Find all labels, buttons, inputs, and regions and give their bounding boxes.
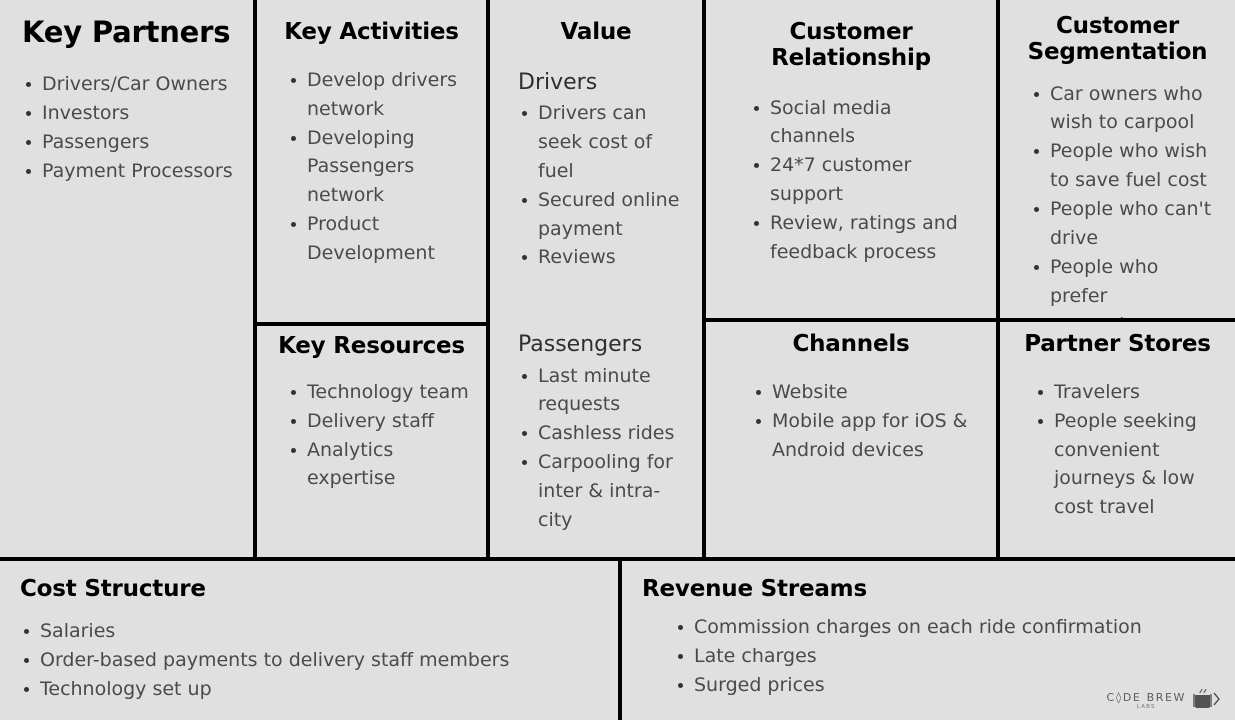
list-item: Carpooling for inter & intra-city [516, 448, 688, 535]
list-item: Review, ratings and feedback process [748, 209, 982, 267]
value-passengers-list: Last minute requests Cashless rides Carp… [516, 362, 688, 535]
list-item: Commission charges on each ride confirma… [672, 613, 1221, 642]
list-item: Salaries [18, 617, 604, 646]
list-item: Investors [20, 99, 239, 128]
divider-horizontal-activities-resources [253, 322, 490, 326]
partner-stores-title: Partner Stores [1014, 332, 1221, 358]
brew-cup-icon [1191, 688, 1221, 710]
revenue-streams-list: Commission charges on each ride confirma… [672, 613, 1221, 700]
list-item: Passengers [20, 128, 239, 157]
customer-relationship-list: Social media channels 24*7 customer supp… [748, 94, 982, 267]
list-item: Travelers [1032, 378, 1221, 407]
list-item: Developing Passengers network [285, 124, 472, 211]
revenue-streams-title: Revenue Streams [642, 577, 1221, 603]
list-item: Website [750, 378, 982, 407]
list-item: People who can't drive [1028, 195, 1221, 253]
divider-vertical-1 [253, 0, 257, 557]
list-item: Payment Processors [20, 157, 239, 186]
list-item: Drivers/Car Owners [20, 70, 239, 99]
block-key-activities: Key Activities Develop drivers network D… [257, 0, 486, 322]
list-item: 24*7 customer support [748, 151, 982, 209]
key-resources-title: Key Resources [271, 334, 472, 360]
value-drivers-list: Drivers can seek cost of fuel Secured on… [516, 99, 688, 272]
divider-vertical-3 [702, 0, 706, 557]
code-brew-labs-logo: C◊DE BREW LABS [1107, 688, 1221, 710]
divider-vertical-2 [486, 0, 490, 557]
list-item: Technology team [285, 378, 472, 407]
list-item: Late charges [672, 642, 1221, 671]
block-customer-segmentation: Customer Segmentation Car owners who wis… [1000, 0, 1235, 318]
list-item: Social media channels [748, 94, 982, 152]
value-title: Value [504, 20, 688, 46]
key-activities-title: Key Activities [271, 20, 472, 46]
key-activities-list: Develop drivers network Developing Passe… [285, 66, 472, 268]
business-model-canvas: Key Partners Drivers/Car Owners Investor… [0, 0, 1235, 720]
list-item: Car owners who wish to carpool [1028, 80, 1221, 138]
logo-wordmark: C◊DE BREW LABS [1107, 692, 1186, 711]
list-item: People seeking convenient journeys & low… [1032, 407, 1221, 523]
list-item: Analytics expertise [285, 436, 472, 494]
list-item: Last minute requests [516, 362, 688, 420]
cost-structure-title: Cost Structure [20, 577, 604, 603]
block-customer-relationship: Customer Relationship Social media chann… [706, 0, 996, 318]
list-item: Product Development [285, 210, 472, 268]
customer-segmentation-list: Car owners who wish to carpool People wh… [1028, 80, 1221, 340]
list-item: Drivers can seek cost of fuel [516, 99, 688, 186]
list-item: Reviews [516, 243, 688, 272]
partner-stores-list: Travelers People seeking convenient jour… [1032, 378, 1221, 522]
divider-vertical-bottom [618, 561, 622, 720]
list-item: Cashless rides [516, 419, 688, 448]
channels-list: Website Mobile app for iOS & Android dev… [750, 378, 982, 465]
value-group-heading-drivers: Drivers [518, 70, 688, 95]
block-value: Value Drivers Drivers can seek cost of f… [490, 0, 702, 557]
cost-structure-list: Salaries Order-based payments to deliver… [18, 617, 604, 704]
divider-vertical-4 [996, 0, 1000, 557]
list-item: Technology set up [18, 675, 604, 704]
block-partner-stores: Partner Stores Travelers People seeking … [1000, 322, 1235, 557]
key-partners-list: Drivers/Car Owners Investors Passengers … [20, 70, 239, 186]
list-item: People who wish to save fuel cost [1028, 137, 1221, 195]
value-group-heading-passengers: Passengers [518, 332, 688, 357]
block-revenue-streams: Revenue Streams Commission charges on ea… [622, 561, 1235, 720]
divider-horizontal-main-bottom [0, 557, 1235, 561]
channels-title: Channels [720, 332, 982, 358]
list-item: Delivery staff [285, 407, 472, 436]
list-item: Develop drivers network [285, 66, 472, 124]
block-key-resources: Key Resources Technology team Delivery s… [257, 326, 486, 557]
list-item: Mobile app for iOS & Android devices [750, 407, 982, 465]
customer-segmentation-title: Customer Segmentation [1014, 14, 1221, 66]
block-key-partners: Key Partners Drivers/Car Owners Investor… [0, 0, 253, 557]
logo-sub-text: LABS [1137, 705, 1156, 711]
block-channels: Channels Website Mobile app for iOS & An… [706, 322, 996, 557]
divider-horizontal-relationship-channels [702, 318, 1235, 322]
customer-relationship-title: Customer Relationship [720, 20, 982, 72]
key-partners-title: Key Partners [22, 16, 239, 48]
list-item: Order-based payments to delivery staff m… [18, 646, 604, 675]
logo-main-text: C◊DE BREW [1107, 692, 1186, 703]
list-item: Secured online payment [516, 186, 688, 244]
block-cost-structure: Cost Structure Salaries Order-based paym… [0, 561, 618, 720]
key-resources-list: Technology team Delivery staff Analytics… [285, 378, 472, 494]
